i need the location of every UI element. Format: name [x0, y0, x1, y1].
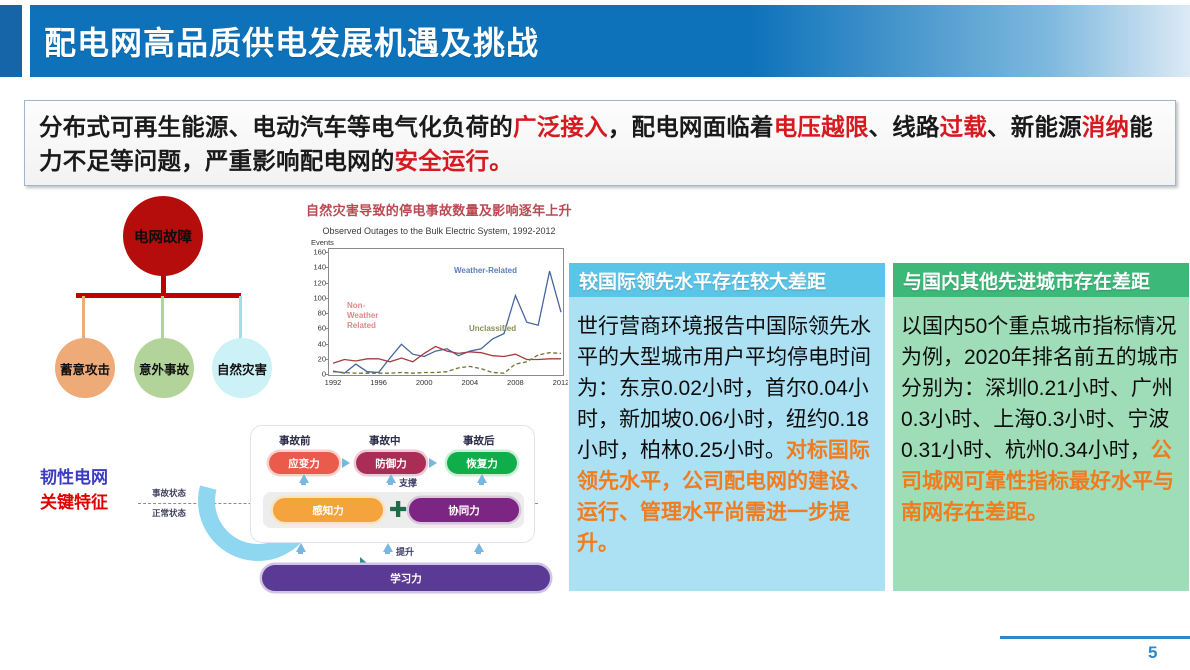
- chart-x-tick: 2000: [416, 378, 433, 387]
- tree-node-root: 电网故障: [123, 196, 203, 276]
- resilience-title-line1: 韧性电网: [40, 465, 108, 490]
- summary-highlight-4: 消纳: [1082, 114, 1129, 140]
- summary-seg-1: 分布式可再生能源、电动汽车等电气化负荷的: [39, 114, 513, 140]
- chart-y-tick-mark: [326, 344, 329, 345]
- summary-highlight-2: 电压越限: [774, 114, 869, 140]
- chart-y-tick: 40: [318, 339, 326, 348]
- support-arrow-3-icon: [477, 474, 487, 483]
- improve-arrow-1-icon: [296, 543, 306, 552]
- chart-x-tick: 2012: [553, 378, 570, 387]
- chart-label-non-weather-related: Non-WeatherRelated: [347, 301, 378, 331]
- chart-plot-area: Weather-Related Non-WeatherRelated Uncla…: [328, 248, 564, 376]
- footer-rule: [1000, 636, 1190, 639]
- title-accent-bar: [0, 5, 22, 77]
- summary-text: 分布式可再生能源、电动汽车等电气化负荷的广泛接入，配电网面临着电压越限、线路过载…: [39, 110, 1161, 178]
- capability-pill-recovery: 恢复力: [447, 452, 517, 474]
- capability-pill-adaptability: 应变力: [269, 452, 339, 474]
- tree-node-accident: 意外事故: [134, 338, 194, 398]
- enabler-pill-perception: 感知力: [273, 498, 383, 522]
- outage-chart: 自然灾害导致的停电事故数量及影响逐年上升 Observed Outages to…: [298, 200, 580, 415]
- summary-highlight-5: 安全运行。: [395, 148, 514, 174]
- stage-arrow-2-icon: [429, 458, 437, 468]
- chart-subtitle-english: Observed Outages to the Bulk Electric Sy…: [298, 226, 580, 236]
- summary-seg-3: 、线路: [869, 114, 940, 140]
- chart-x-tick: 2008: [507, 378, 524, 387]
- tree-branch-line-2: [161, 296, 164, 340]
- chart-y-tick-mark: [326, 359, 329, 360]
- learning-pill: 学习力: [262, 565, 550, 591]
- info-panel-blue-header: 较国际领先水平存在较大差距: [569, 263, 885, 297]
- info-panel-blue-body: 世行营商环境报告中国际领先水平的大型城市用户平均停电时间为：东京0.02小时，首…: [569, 297, 885, 569]
- info-panel-green-body-plain: 以国内50个重点城市指标情况为例，2020年排名前五的城市分别为：深圳0.21小…: [901, 315, 1179, 462]
- resilience-title-line2: 关键特征: [40, 490, 108, 515]
- chart-y-tick: 160: [313, 248, 326, 257]
- info-panel-green-header: 与国内其他先进城市存在差距: [893, 263, 1189, 297]
- chart-x-tick: 1996: [370, 378, 387, 387]
- tree-bus-line: [76, 293, 241, 298]
- plus-icon: ✚: [389, 500, 409, 520]
- tree-node-intentional-attack: 蓄意攻击: [55, 338, 115, 398]
- info-panel-domestic-gap: 与国内其他先进城市存在差距 以国内50个重点城市指标情况为例，2020年排名前五…: [892, 262, 1190, 592]
- improve-arrow-2-icon: [383, 543, 393, 552]
- stage-header-pre-event: 事故前: [279, 433, 311, 448]
- chart-y-tick-mark: [326, 252, 329, 253]
- chart-y-tick: 60: [318, 324, 326, 333]
- chart-y-tick-mark: [326, 313, 329, 314]
- slide-root: 配电网高品质供电发展机遇及挑战 分布式可再生能源、电动汽车等电气化负荷的广泛接入…: [0, 0, 1190, 670]
- chart-y-tick-mark: [326, 328, 329, 329]
- improve-label: 提升: [396, 545, 414, 558]
- page-title: 配电网高品质供电发展机遇及挑战: [44, 18, 539, 64]
- chart-y-tick-mark: [326, 283, 329, 284]
- summary-highlight-3: 过载: [940, 114, 987, 140]
- summary-highlight-1: 广泛接入: [513, 114, 608, 140]
- summary-callout-box: 分布式可再生能源、电动汽车等电气化负荷的广泛接入，配电网面临着电压越限、线路过载…: [24, 100, 1176, 186]
- info-panel-international-gap: 较国际领先水平存在较大差距 世行营商环境报告中国际领先水平的大型城市用户平均停电…: [568, 262, 886, 592]
- tree-branch-line-1: [82, 296, 85, 340]
- chart-y-tick: 20: [318, 354, 326, 363]
- tree-node-natural-disaster: 自然灾害: [212, 338, 272, 398]
- tree-branch-line-3: [239, 296, 242, 340]
- support-arrow-2-icon: [386, 474, 396, 483]
- chart-title-chinese: 自然灾害导致的停电事故数量及影响逐年上升: [298, 200, 580, 219]
- stage-arrow-1-icon: [342, 458, 350, 468]
- summary-seg-2: ，配电网面临着: [608, 114, 774, 140]
- capability-pill-defense: 防御力: [356, 452, 426, 474]
- resilience-stage-card: 事故前 事故中 事故后 应变力 防御力 恢复力 支撑 感知力 ✚ 协同力: [250, 425, 535, 543]
- chart-y-tick: 80: [318, 309, 326, 318]
- chart-label-weather-related: Weather-Related: [454, 266, 517, 276]
- info-panel-green-body: 以国内50个重点城市指标情况为例，2020年排名前五的城市分别为：深圳0.21小…: [893, 297, 1189, 538]
- state-label-normal: 正常状态: [152, 507, 186, 519]
- state-label-fault: 事故状态: [152, 487, 186, 499]
- chart-y-tick-mark: [326, 374, 329, 375]
- chart-y-tick: 120: [313, 278, 326, 287]
- summary-seg-4: 、新能源: [987, 114, 1082, 140]
- support-arrow-1-icon: [299, 474, 309, 483]
- improve-arrow-3-icon: [474, 543, 484, 552]
- chart-y-axis-label: Events: [311, 238, 580, 247]
- chart-label-unclassified: Unclassified: [469, 324, 516, 334]
- stage-header-during-event: 事故中: [369, 433, 401, 448]
- tree-stem-line: [161, 274, 166, 295]
- chart-x-tick: 1992: [325, 378, 342, 387]
- chart-y-tick: 140: [313, 263, 326, 272]
- stage-header-post-event: 事故后: [463, 433, 495, 448]
- resilience-diagram: 韧性电网 关键特征 事故状态 正常状态 事故前 事故中 事故后 应变力 防御力 …: [30, 415, 550, 605]
- chart-x-tick: 2004: [461, 378, 478, 387]
- chart-y-tick: 100: [313, 293, 326, 302]
- enabler-pill-coordination: 协同力: [409, 498, 519, 522]
- support-label: 支撑: [399, 476, 417, 489]
- fault-tree-diagram: 电网故障 蓄意攻击 意外事故 自然灾害: [24, 196, 304, 411]
- chart-y-tick-mark: [326, 298, 329, 299]
- resilience-title: 韧性电网 关键特征: [40, 465, 108, 515]
- chart-y-tick-mark: [326, 267, 329, 268]
- slide-title-bar: 配电网高品质供电发展机遇及挑战: [30, 5, 1190, 77]
- page-number: 5: [1148, 643, 1157, 663]
